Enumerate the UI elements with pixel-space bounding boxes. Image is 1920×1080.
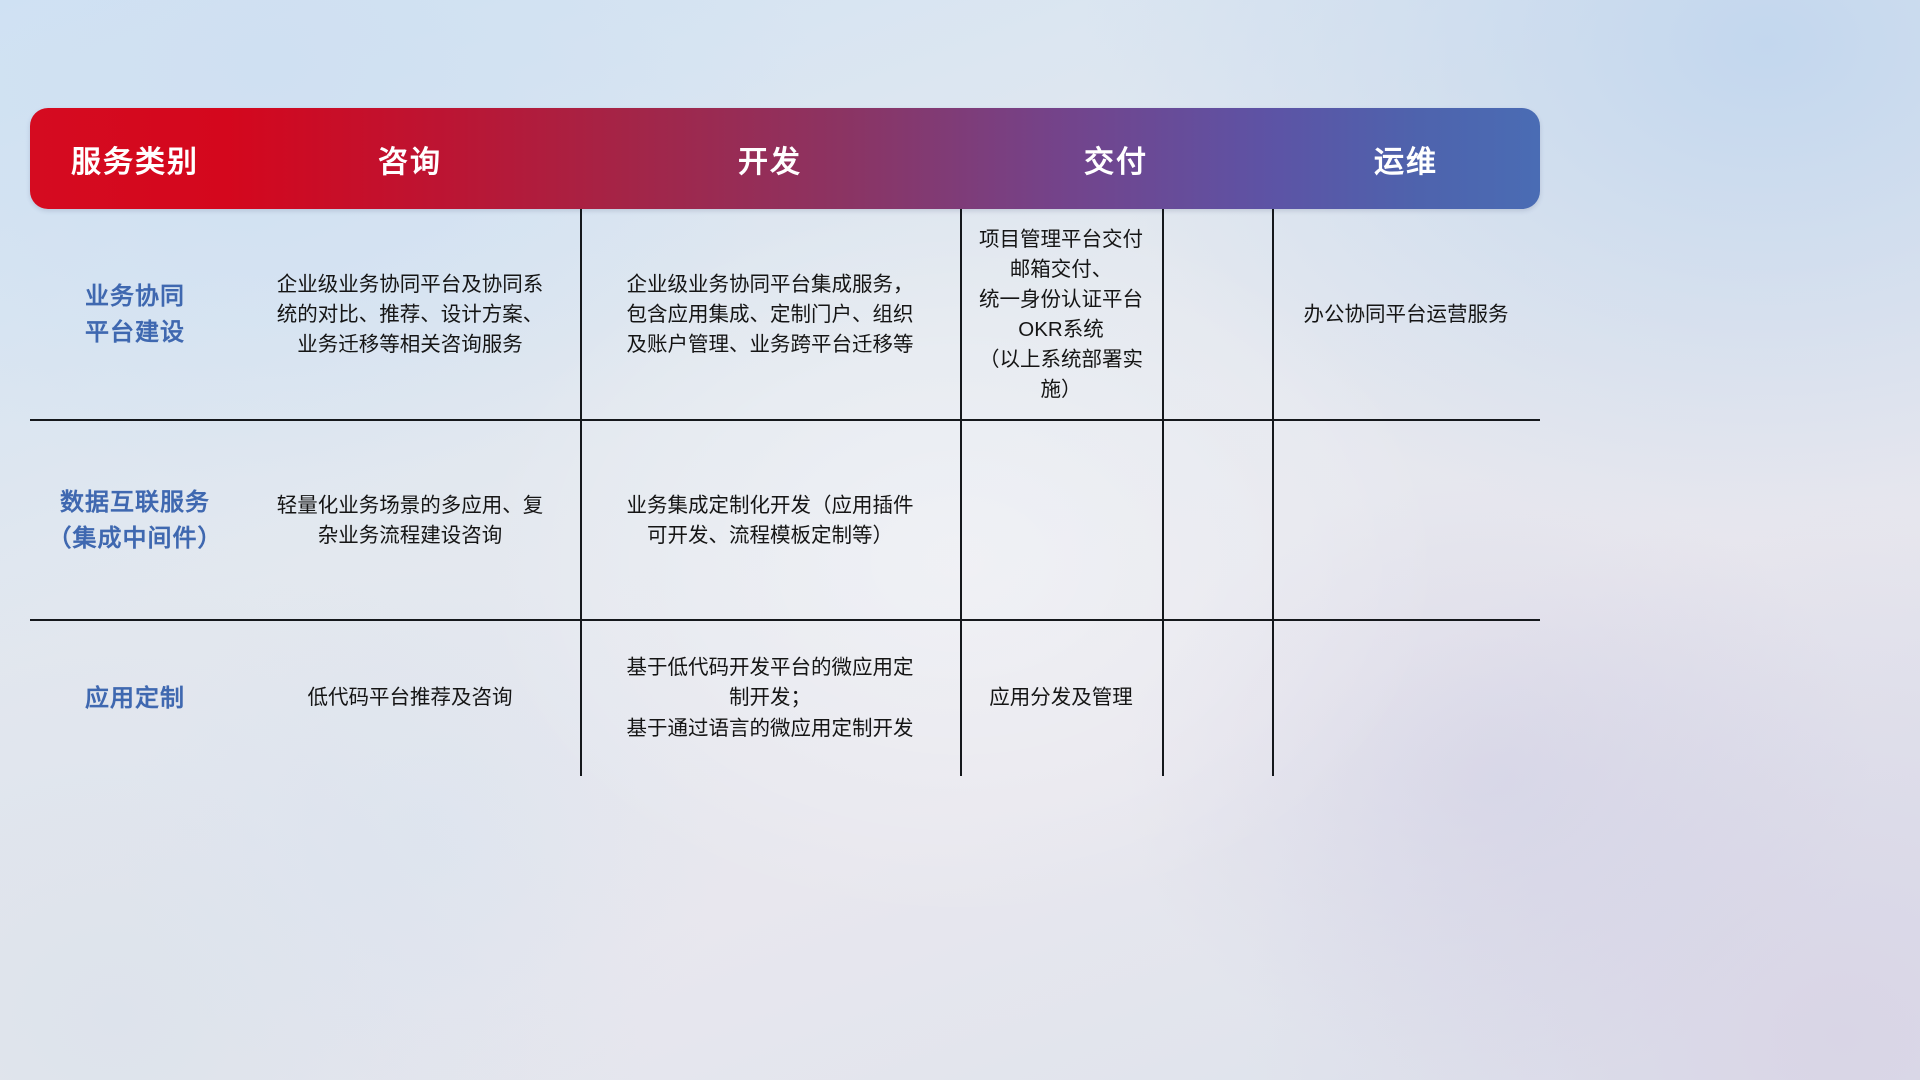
cell-r2-spacer <box>1162 421 1272 621</box>
table-body: 业务协同 平台建设 企业级业务协同平台及协同系 统的对比、推荐、设计方案、 业务… <box>30 209 1540 776</box>
cell-r3-operations <box>1272 621 1540 776</box>
column-header-delivery: 交付 <box>960 137 1272 181</box>
cell-r2-development: 业务集成定制化开发（应用插件 可开发、流程模板定制等） <box>580 421 960 621</box>
cell-r1-delivery: 项目管理平台交付 邮箱交付、 统一身份认证平台 OKR系统 （以上系统部署实施） <box>960 209 1162 421</box>
cell-r3-development: 基于低代码开发平台的微应用定 制开发； 基于通过语言的微应用定制开发 <box>580 621 960 776</box>
cell-r1-development: 企业级业务协同平台集成服务， 包含应用集成、定制门户、组织 及账户管理、业务跨平… <box>580 209 960 421</box>
service-matrix-table: 服务类别 咨询 开发 交付 运维 业务协同 平台建设 企业级业务协同平台及协同系… <box>30 108 1540 776</box>
cell-r3-consulting: 低代码平台推荐及咨询 <box>240 621 580 776</box>
cell-r1-spacer <box>1162 209 1272 421</box>
column-header-service-category: 服务类别 <box>30 137 240 181</box>
cell-r2-operations <box>1272 421 1540 621</box>
cell-r2-consulting: 轻量化业务场景的多应用、复 杂业务流程建设咨询 <box>240 421 580 621</box>
column-header-consulting: 咨询 <box>240 137 580 181</box>
cell-r3-delivery: 应用分发及管理 <box>960 621 1162 776</box>
row-label-data-interconnect: 数据互联服务 （集成中间件） <box>30 421 240 621</box>
cell-r2-delivery <box>960 421 1162 621</box>
cell-r3-spacer <box>1162 621 1272 776</box>
row-label-business-collaboration: 业务协同 平台建设 <box>30 209 240 421</box>
cell-r1-operations: 办公协同平台运营服务 <box>1272 209 1540 421</box>
table-row: 应用定制 低代码平台推荐及咨询 基于低代码开发平台的微应用定 制开发； 基于通过… <box>30 621 1540 776</box>
table-header-row: 服务类别 咨询 开发 交付 运维 <box>30 108 1540 209</box>
column-header-development: 开发 <box>580 137 960 181</box>
table-row: 数据互联服务 （集成中间件） 轻量化业务场景的多应用、复 杂业务流程建设咨询 业… <box>30 421 1540 621</box>
column-header-operations: 运维 <box>1272 137 1540 181</box>
table-row: 业务协同 平台建设 企业级业务协同平台及协同系 统的对比、推荐、设计方案、 业务… <box>30 209 1540 421</box>
row-label-app-customization: 应用定制 <box>30 621 240 776</box>
cell-r1-consulting: 企业级业务协同平台及协同系 统的对比、推荐、设计方案、 业务迁移等相关咨询服务 <box>240 209 580 421</box>
